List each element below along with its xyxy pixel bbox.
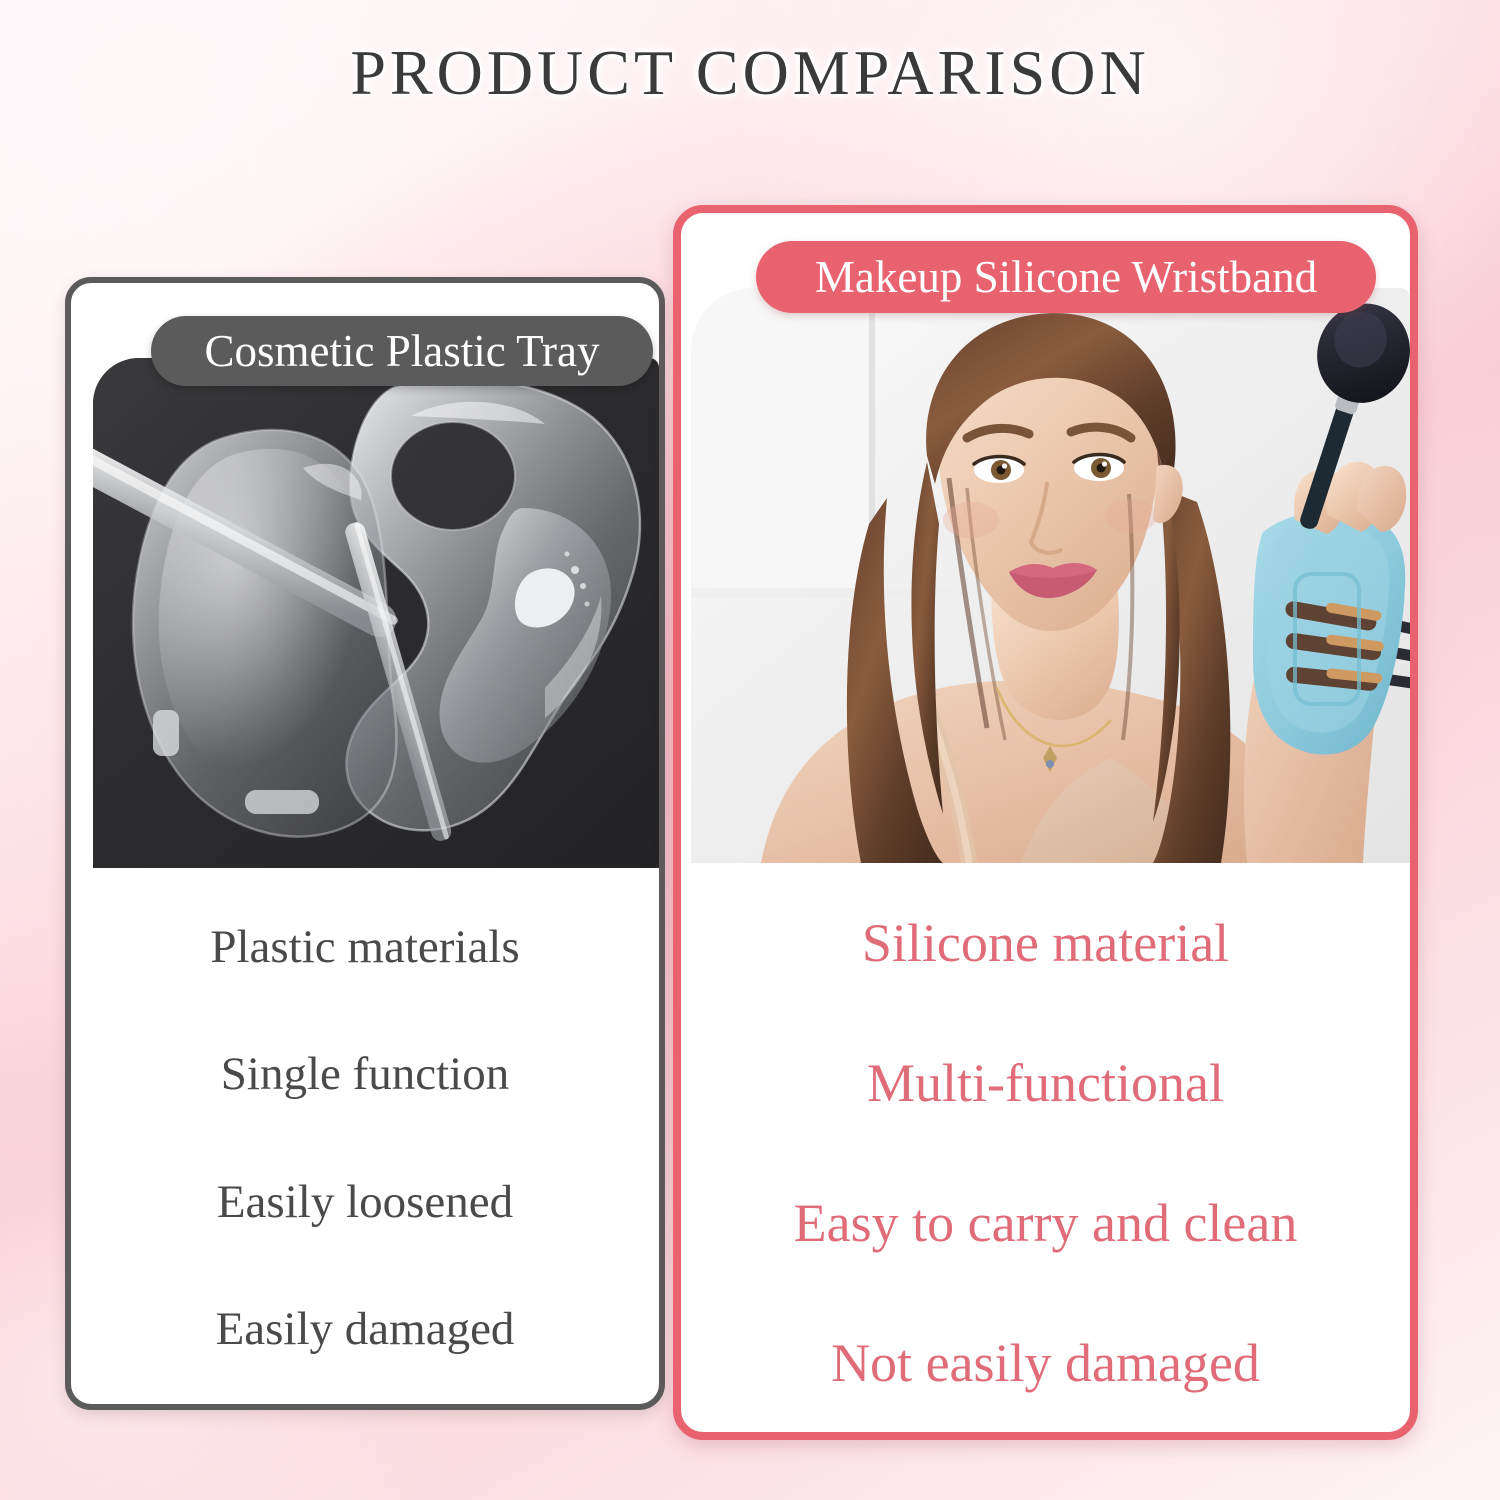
feature-item: Plastic materials [71, 883, 659, 1011]
feature-item: Not easily damaged [681, 1293, 1410, 1433]
feature-item: Single function [71, 1011, 659, 1139]
card-left-badge: Cosmetic Plastic Tray [151, 316, 653, 386]
card-left-badge-label: Cosmetic Plastic Tray [204, 325, 599, 377]
card-right-badge-label: Makeup Silicone Wristband [815, 251, 1317, 303]
feature-item: Easily loosened [71, 1138, 659, 1266]
model-with-wristband-illustration [691, 288, 1410, 863]
feature-item: Easy to carry and clean [681, 1153, 1410, 1293]
feature-item: Multi-functional [681, 1013, 1410, 1153]
product-photo-right [691, 288, 1410, 863]
product-photo-left [93, 358, 659, 868]
comparison-card-right: Makeup Silicone Wristband Silicone mater… [673, 205, 1418, 1440]
plastic-tray-illustration [93, 358, 659, 868]
feature-item: Easily damaged [71, 1266, 659, 1394]
page-title: PRODUCT COMPARISON [0, 36, 1500, 110]
comparison-card-left: Cosmetic Plastic Tray Plastic materials … [65, 277, 665, 1410]
card-right-feature-list: Silicone material Multi-functional Easy … [681, 873, 1410, 1433]
card-left-feature-list: Plastic materials Single function Easily… [71, 883, 659, 1393]
card-right-badge: Makeup Silicone Wristband [756, 241, 1376, 313]
feature-item: Silicone material [681, 873, 1410, 1013]
